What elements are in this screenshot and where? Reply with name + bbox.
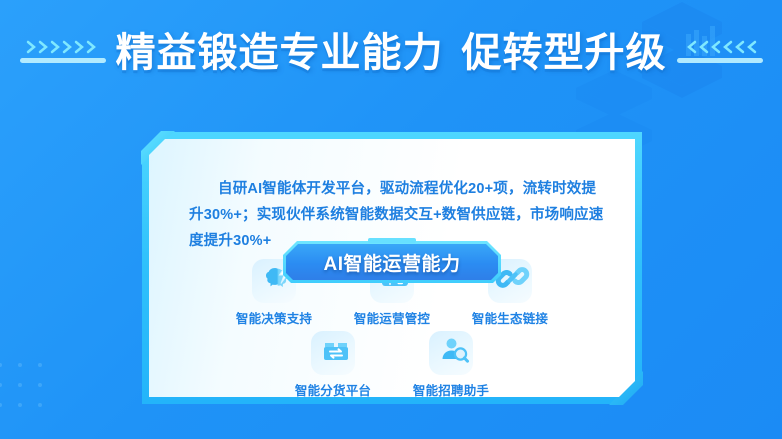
badge-label: AI智能运营能力 [323, 249, 460, 276]
feature-item-distribution-platform[interactable]: 智能分货平台 [287, 331, 379, 399]
feature-label: 智能决策支持 [236, 308, 312, 327]
feature-label: 智能招聘助手 [413, 380, 489, 399]
box-exchange-icon [311, 331, 355, 375]
person-search-icon [429, 331, 473, 375]
page-title-row: 精益锻造专业能力促转型升级 [0, 22, 782, 84]
feature-label: 智能分货平台 [295, 380, 371, 399]
background-dots-icon [0, 355, 140, 439]
page-title-part-2: 促转型升级 [462, 31, 667, 75]
feature-label: 智能运营管控 [354, 308, 430, 327]
capability-card: 自研AI智能体开发平台，驱动流程优化20+项，流转时效提升30%+；实现伙伴系统… [142, 132, 642, 404]
title-right-decoration [677, 38, 763, 68]
slide-root: 精益锻造专业能力促转型升级 [0, 0, 782, 439]
page-title: 精益锻造专业能力促转型升级 [116, 33, 667, 73]
card-badge: AI智能运营能力 [283, 241, 501, 283]
feature-label: 智能生态链接 [472, 308, 548, 327]
feature-item-recruiting-assistant[interactable]: 智能招聘助手 [405, 331, 497, 399]
badge-tab-icon [368, 238, 416, 243]
badge-fill: AI智能运营能力 [286, 244, 498, 280]
page-title-part-1: 精益锻造专业能力 [116, 31, 444, 75]
title-left-decoration [20, 38, 106, 68]
features-row-2: 智能分货平台 智能招聘助手 [149, 331, 635, 399]
